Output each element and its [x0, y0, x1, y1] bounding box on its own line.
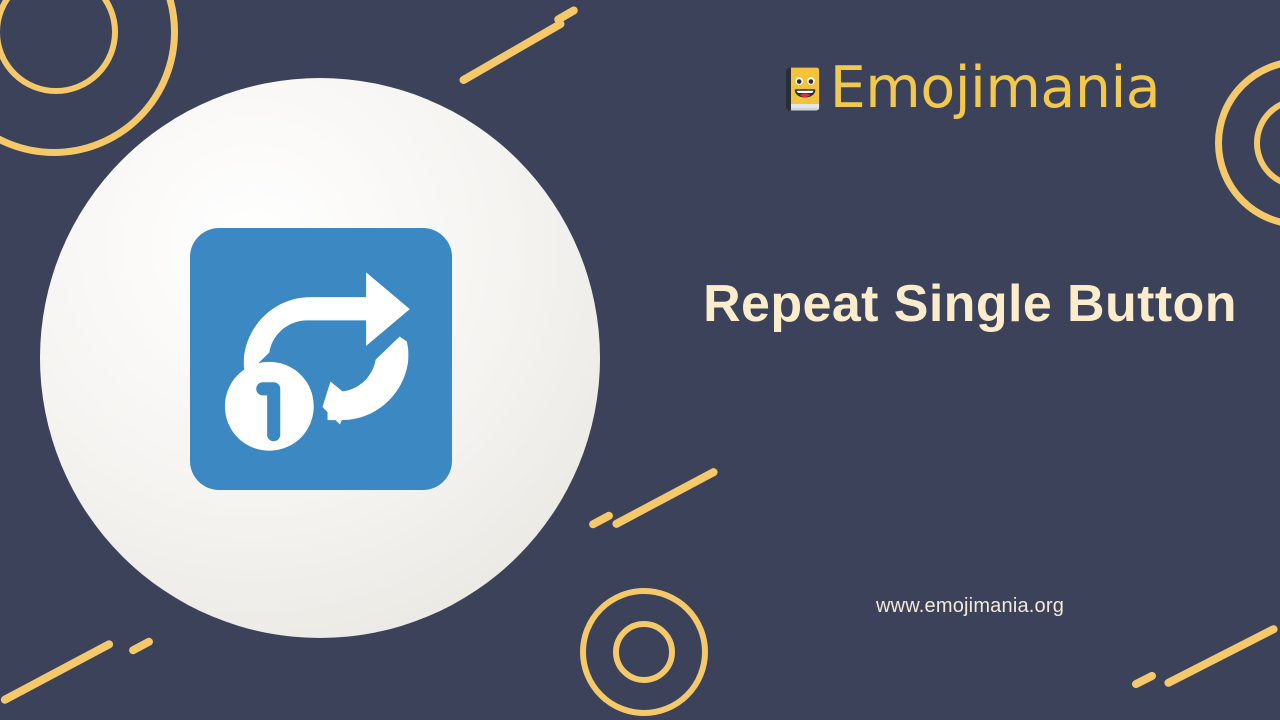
right-column: Emojimania Repeat Single Button www.emoj…: [660, 0, 1280, 720]
dash-bottom-left-short-icon: [128, 636, 155, 655]
page-title: Repeat Single Button: [700, 272, 1240, 337]
dash-bottom-left-long-icon: [0, 639, 115, 705]
dash-top-long-icon: [458, 19, 566, 86]
brand-lockup: Emojimania: [660, 60, 1280, 117]
site-url: www.emojimania.org: [700, 595, 1240, 618]
brand-name: Emojimania: [830, 60, 1160, 117]
dash-top-short-icon: [553, 5, 580, 25]
emoji-showcase: [40, 78, 600, 638]
orange-book-emoji-icon: [780, 64, 824, 114]
promo-card: Emojimania Repeat Single Button www.emoj…: [0, 0, 1280, 720]
repeat-single-button-emoji: [190, 228, 452, 490]
